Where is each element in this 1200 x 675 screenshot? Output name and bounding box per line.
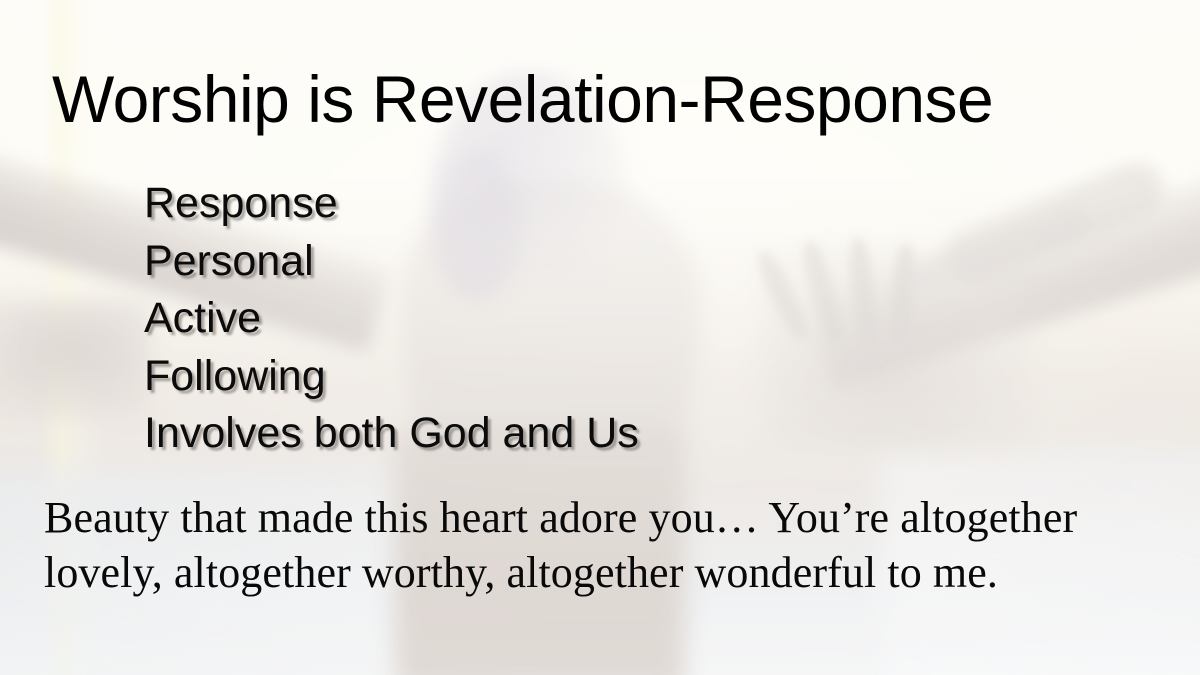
background-sleeve-fold [938,155,1171,291]
background-left-hand [0,300,150,420]
background-finger [752,248,814,344]
list-item: Involves both God and Us [144,405,639,463]
bullet-list: Response Personal Active Following Invol… [144,175,639,463]
list-item: Following [144,348,639,406]
quote-text: Beauty that made this heart adore you… Y… [44,490,1114,600]
background-right-arm [807,138,1200,388]
background-finger [889,243,918,342]
background-finger [847,237,880,345]
background-sleeve-fold [905,201,1095,298]
list-item: Active [144,290,639,348]
list-item: Personal [144,233,639,291]
list-item: Response [144,175,639,233]
background-finger [798,239,848,345]
presentation-slide: Worship is Revelation-Response Response … [0,0,1200,675]
background-right-hand [760,250,1030,450]
page-title: Worship is Revelation-Response [52,60,1162,138]
